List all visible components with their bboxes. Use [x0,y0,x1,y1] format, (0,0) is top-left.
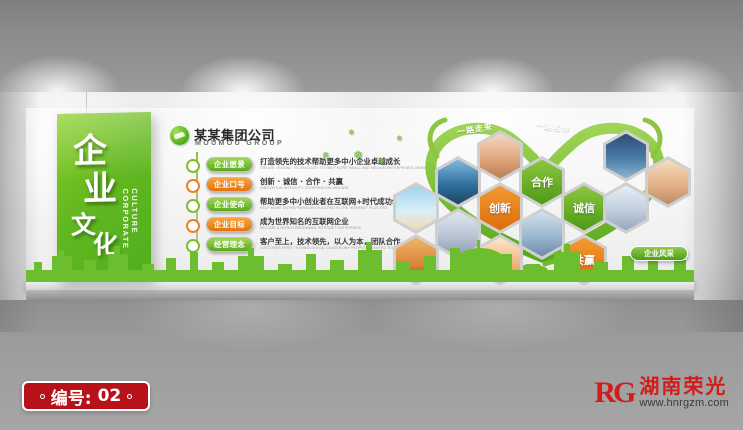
timeline-desc-en: HELP MORE ENTREPRENEURS SUCCEED IN THE I… [260,206,387,210]
timeline-node [186,219,200,233]
leaf-circle-icon [170,126,189,145]
butterfly-icon: ❅ [322,150,330,161]
hexagon-inner [438,160,478,205]
badge-dot-left [40,394,45,399]
ceiling [0,0,743,92]
timeline-node [186,159,200,173]
hexagon-inner: 创新 [480,186,520,231]
brand-website-url[interactable]: www.hnrgzm.com [639,397,729,409]
timeline-desc-en: INNOVATION INTEGRITY COOPERATION WIN-WIN [260,186,349,190]
city-skyline-silhouette [26,236,694,282]
timeline-pill[interactable]: 企业愿景 [206,157,253,172]
timeline-pill[interactable]: 企业口号 [206,177,253,192]
hexagon-inner [480,134,520,179]
hexagon-inner [606,134,646,179]
title-char-2: 业 [83,161,117,211]
hexagon-inner [648,160,688,205]
wall-base-strip [26,290,694,300]
timeline-node [186,199,200,213]
serial-number-value: 02 [98,386,122,406]
hexagon-inner: 诚信 [564,186,604,231]
butterfly-icon: ❅ [378,156,386,167]
timeline-pill[interactable]: 企业使命 [206,197,253,212]
serial-number-label: 编号: [51,384,92,409]
timeline-desc-en: BECOME A WORLD RENOWNED INTERNET ENTERPR… [260,226,361,230]
hexagon-inner [606,186,646,231]
rg-logo-icon: RG [594,378,633,408]
company-name-en: MOUMOU GROUP [195,140,284,147]
butterfly-icon: ❅ [348,128,355,137]
butterfly-icon: ❅ [353,148,363,162]
butterfly-icon: ❅ [396,134,403,143]
feature-badge[interactable]: 企业风采 [630,246,688,261]
hexagon-inner: 合作 [522,160,562,205]
screenshot-root: 企 业 文 化 CULTURE CORPORATE 某某集团公司 MOUMOU … [0,0,743,430]
brand-name-cn: 湖南荣光 [639,376,729,397]
timeline-node [186,179,200,193]
badge-dot-right [127,394,132,399]
timeline-pill[interactable]: 企业目标 [206,217,253,232]
hexagon-inner [396,186,436,231]
brand-block: RG 湖南荣光 www.hnrgzm.com [594,376,729,409]
serial-number-badge: 编号: 02 [22,381,150,411]
